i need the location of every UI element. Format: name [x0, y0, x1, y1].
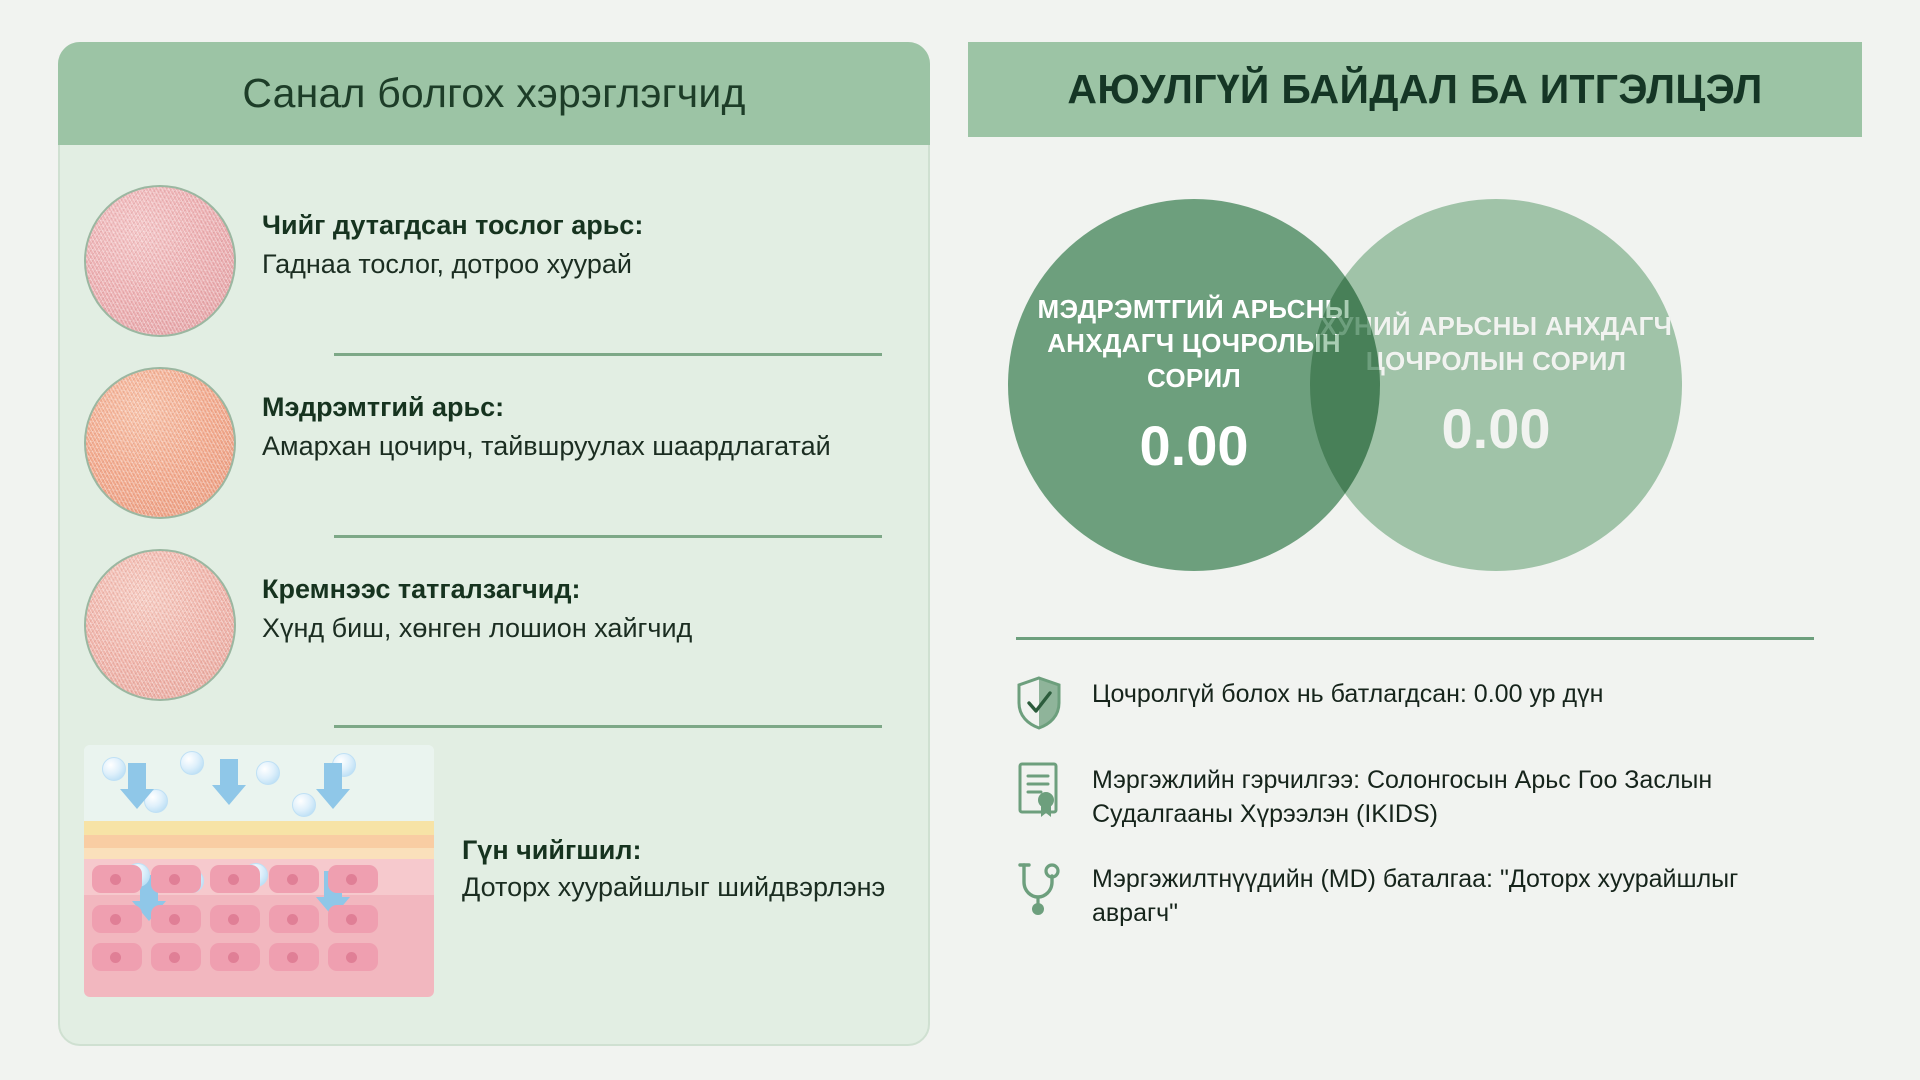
- shield-check-icon: [1012, 674, 1066, 732]
- skin-type-desc: Хүнд биш, хөнген лошион хайгчид: [262, 610, 692, 647]
- skin-cell-row: [92, 943, 378, 971]
- infographic-page: Санал болгох хэрэглэгчид Чийг дутагдсан …: [0, 0, 1920, 1080]
- skin-type-text: Мэдрэмтгий арьс: Амархан цочирч, тайвшру…: [262, 367, 831, 466]
- water-droplet-icon: [256, 761, 280, 785]
- skin-type-list: Чийг дутагдсан тослог арьс: Гаднаа тосло…: [58, 145, 930, 1046]
- stethoscope-icon: [1012, 859, 1066, 917]
- absorption-arrow-icon: [120, 763, 154, 809]
- left-panel-header: Санал болгох хэрэглэгчид: [58, 42, 930, 145]
- skin-type-title: Чийг дутагдсан тослог арьс:: [262, 207, 643, 243]
- skin-swatch-sensitive: [84, 367, 236, 519]
- left-panel-title: Санал болгох хэрэглэгчид: [242, 70, 745, 117]
- trust-item-text: Мэргэжлийн гэрчилгээ: Солонгосын Арьс Го…: [1092, 760, 1818, 831]
- venn-circle-human-skin-test: ХУНИЙ АРЬСНЫ АНХДАГЧ ЦОЧРОЛЫН СОРИЛ 0.00: [1310, 199, 1682, 571]
- skin-type-desc: Гаднаа тослог, дотроо хуурай: [262, 246, 643, 283]
- skin-type-desc: Амархан цочирч, тайвшруулах шаардлагатай: [262, 428, 831, 465]
- skin-swatch-cream-averse: [84, 549, 236, 701]
- venn-score: 0.00: [1442, 396, 1551, 461]
- trust-item: Цочролгүй болох нь батлагдсан: 0.00 ур д…: [1012, 674, 1818, 732]
- venn-diagram: МЭДРЭМТГИЙ АРЬСНЫ АНХДАГЧ ЦОЧРОЛЫН СОРИЛ…: [968, 199, 1862, 599]
- skin-cross-section-diagram: [84, 745, 434, 997]
- deep-moisture-desc: Доторх хуурайшлыг шийдвэрлэнэ: [462, 869, 885, 906]
- absorption-arrow-icon: [316, 763, 350, 809]
- skin-swatch-dehydrated-oily: [84, 185, 236, 337]
- water-droplet-icon: [180, 751, 204, 775]
- section-divider: [1016, 637, 1814, 640]
- skin-cell-row: [92, 865, 378, 893]
- skin-type-text: Чийг дутагдсан тослог арьс: Гаднаа тосло…: [262, 185, 643, 284]
- skin-type-item: Мэдрэмтгий арьс: Амархан цочирч, тайвшру…: [84, 353, 904, 535]
- trust-item: Мэргэжилтнүүдийн (MD) баталгаа: "Доторх …: [1012, 859, 1818, 930]
- venn-score: 0.00: [1140, 413, 1249, 478]
- right-panel-header: АЮУЛГҮЙ БАЙДАЛ БА ИТГЭЛЦЭЛ: [968, 42, 1862, 137]
- skin-type-title: Мэдрэмтгий арьс:: [262, 389, 831, 425]
- skin-type-item: Кремнээс татгалзагчид: Хүнд биш, хөнген …: [84, 535, 904, 717]
- deep-moisture-text: Гүн чийгшил: Доторх хуурайшлыг шийдвэрлэ…: [456, 835, 885, 906]
- trust-item-text: Цочролгүй болох нь батлагдсан: 0.00 ур д…: [1092, 674, 1603, 712]
- skin-type-item: Чийг дутагдсан тослог арьс: Гаднаа тосло…: [84, 171, 904, 353]
- right-panel-title: АЮУЛГҮЙ БАЙДАЛ БА ИТГЭЛЦЭЛ: [1067, 66, 1762, 113]
- venn-label: ХУНИЙ АРЬСНЫ АНХДАГЧ ЦОЧРОЛЫН СОРИЛ: [1310, 309, 1682, 378]
- water-droplet-icon: [292, 793, 316, 817]
- skin-type-title: Кремнээс татгалзагчид:: [262, 571, 692, 607]
- skin-cell-row: [92, 905, 378, 933]
- absorption-arrow-icon: [212, 759, 246, 805]
- trust-list: Цочролгүй болох нь батлагдсан: 0.00 ур д…: [1012, 674, 1818, 930]
- skin-type-text: Кремнээс татгалзагчид: Хүнд биш, хөнген …: [262, 549, 692, 648]
- trust-item: Мэргэжлийн гэрчилгээ: Солонгосын Арьс Го…: [1012, 760, 1818, 831]
- safety-trust-panel: АЮУЛГҮЙ БАЙДАЛ БА ИТГЭЛЦЭЛ МЭДРЭМТГИЙ АР…: [968, 42, 1862, 1046]
- certificate-icon: [1012, 760, 1066, 818]
- recommended-users-panel: Санал болгох хэрэглэгчид Чийг дутагдсан …: [58, 42, 930, 1046]
- trust-item-text: Мэргэжилтнүүдийн (MD) баталгаа: "Доторх …: [1092, 859, 1818, 930]
- deep-moisture-title: Гүн чийгшил:: [462, 835, 885, 866]
- deep-moisture-block: Гүн чийгшил: Доторх хуурайшлыг шийдвэрлэ…: [84, 725, 904, 997]
